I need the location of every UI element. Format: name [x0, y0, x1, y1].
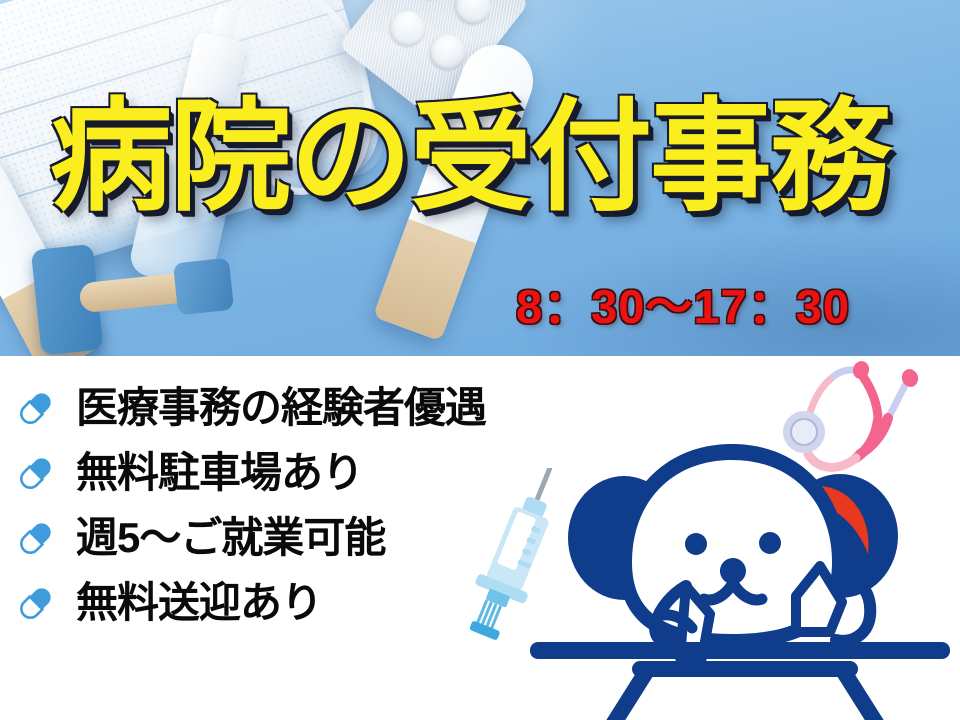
list-item-label: 無料駐車場あり — [76, 452, 363, 494]
benefits-section: 医療事務の経験者優遇 無料駐車場あり — [0, 356, 960, 720]
list-item: 無料駐車場あり — [10, 447, 486, 499]
list-item-label: 医療事務の経験者優遇 — [76, 387, 486, 429]
capsule-pill-icon — [10, 577, 62, 629]
benefits-list: 医療事務の経験者優遇 無料駐車場あり — [10, 382, 486, 629]
list-item-label: 無料送迎あり — [76, 582, 322, 624]
photo-banner: 病院の受付事務 8：30〜17：30 — [0, 0, 960, 356]
list-item: 無料送迎あり — [10, 577, 486, 629]
capsule-pill-icon — [10, 382, 62, 434]
working-hours-text: 8：30〜17：30 — [516, 283, 850, 330]
capsule-pill-icon — [10, 512, 62, 564]
list-item: 週5〜ご就業可能 — [10, 512, 486, 564]
list-item-label: 週5〜ご就業可能 — [76, 517, 385, 559]
page-title: 病院の受付事務 — [50, 96, 890, 218]
bear-receptionist-mascot — [520, 426, 960, 720]
list-item: 医療事務の経験者優遇 — [10, 382, 486, 434]
job-advertisement-poster: 病院の受付事務 8：30〜17：30 — [0, 0, 960, 720]
capsule-pill-icon — [10, 447, 62, 499]
